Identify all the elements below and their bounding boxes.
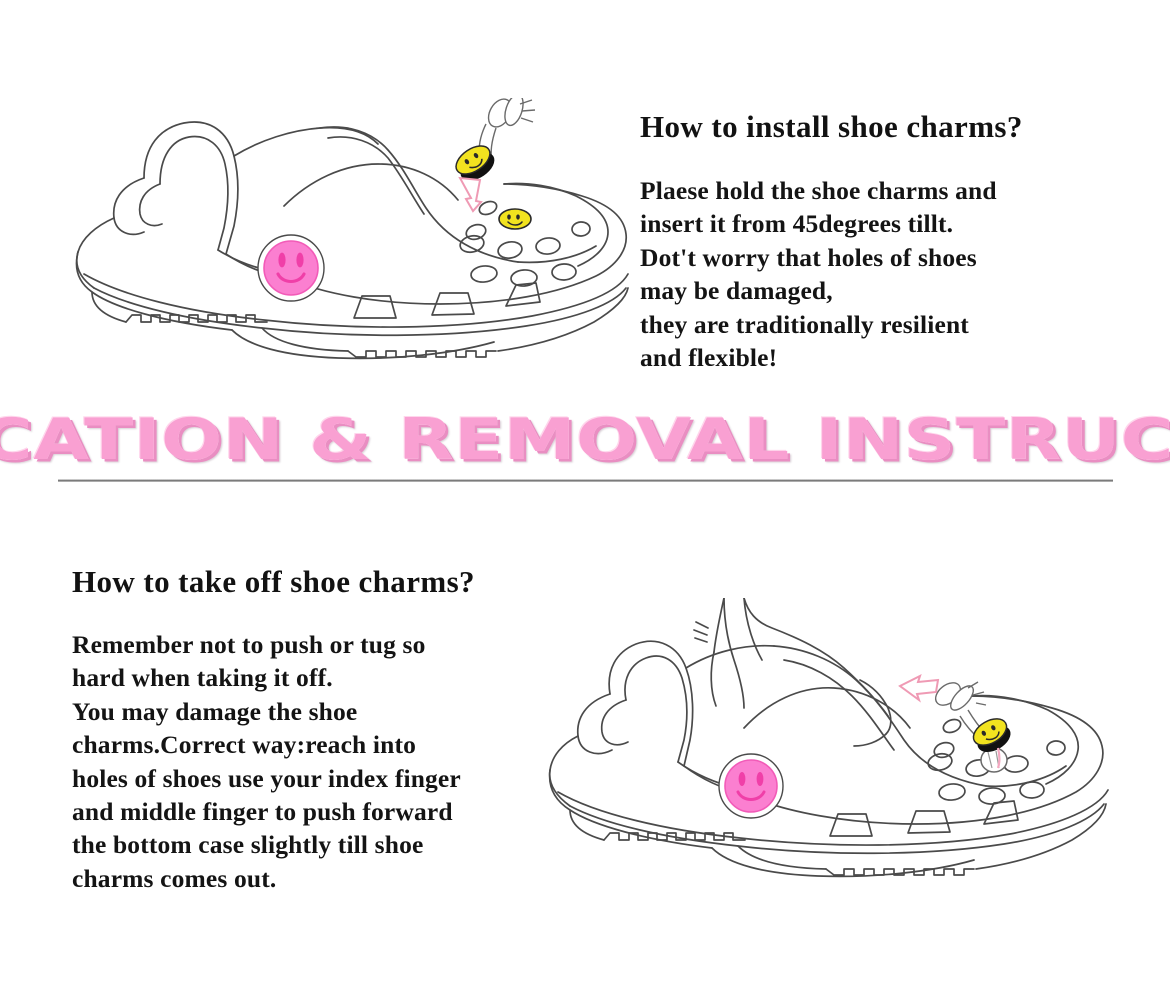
install-line-5: they are traditionally resilient (640, 308, 1110, 341)
banner-title: APPLICATION & REMOVAL INSTRUCTIONS (0, 409, 1170, 470)
install-heading: How to install shoe charms? (640, 110, 1023, 144)
instruction-sheet: How to install shoe charms? Plaese hold … (0, 0, 1170, 1004)
section-divider (58, 479, 1113, 482)
remove-line-4: charms.Correct way:reach into (72, 728, 572, 761)
install-line-2: insert it from 45degrees tillt. (640, 207, 1110, 240)
pink-down-arrow-icon (460, 178, 481, 211)
remove-line-5: holes of shoes use your index finger (72, 762, 572, 795)
clog-shoe-insert-svg (48, 98, 633, 363)
install-line-4: may be damaged, (640, 274, 1110, 307)
pink-smiley-charm-install (258, 235, 324, 301)
remove-illustration (548, 598, 1113, 903)
remove-line-2: hard when taking it off. (72, 661, 572, 694)
pink-smiley-charm-remove (719, 754, 783, 818)
yellow-smiley-charm-seated (499, 209, 531, 229)
install-body: Plaese hold the shoe charms and insert i… (640, 174, 1110, 374)
remove-line-8: charms comes out. (72, 862, 572, 895)
remove-body: Remember not to push or tug so hard when… (72, 628, 572, 895)
charm-in-hand-install (451, 98, 535, 211)
pink-left-arrow-icon (900, 676, 938, 700)
remove-line-3: You may damage the shoe (72, 695, 572, 728)
install-illustration (48, 98, 633, 363)
install-line-6: and flexible! (640, 341, 1110, 374)
remove-heading: How to take off shoe charms? (72, 565, 475, 599)
remove-line-6: and middle finger to push forward (72, 795, 572, 828)
remove-line-1: Remember not to push or tug so (72, 628, 572, 661)
clog-shoe-remove-svg (548, 598, 1113, 903)
banner: APPLICATION & REMOVAL INSTRUCTIONS (0, 404, 1170, 476)
remove-line-7: the bottom case slightly till shoe (72, 828, 572, 861)
install-line-3: Dot't worry that holes of shoes (640, 241, 1110, 274)
install-line-1: Plaese hold the shoe charms and (640, 174, 1110, 207)
